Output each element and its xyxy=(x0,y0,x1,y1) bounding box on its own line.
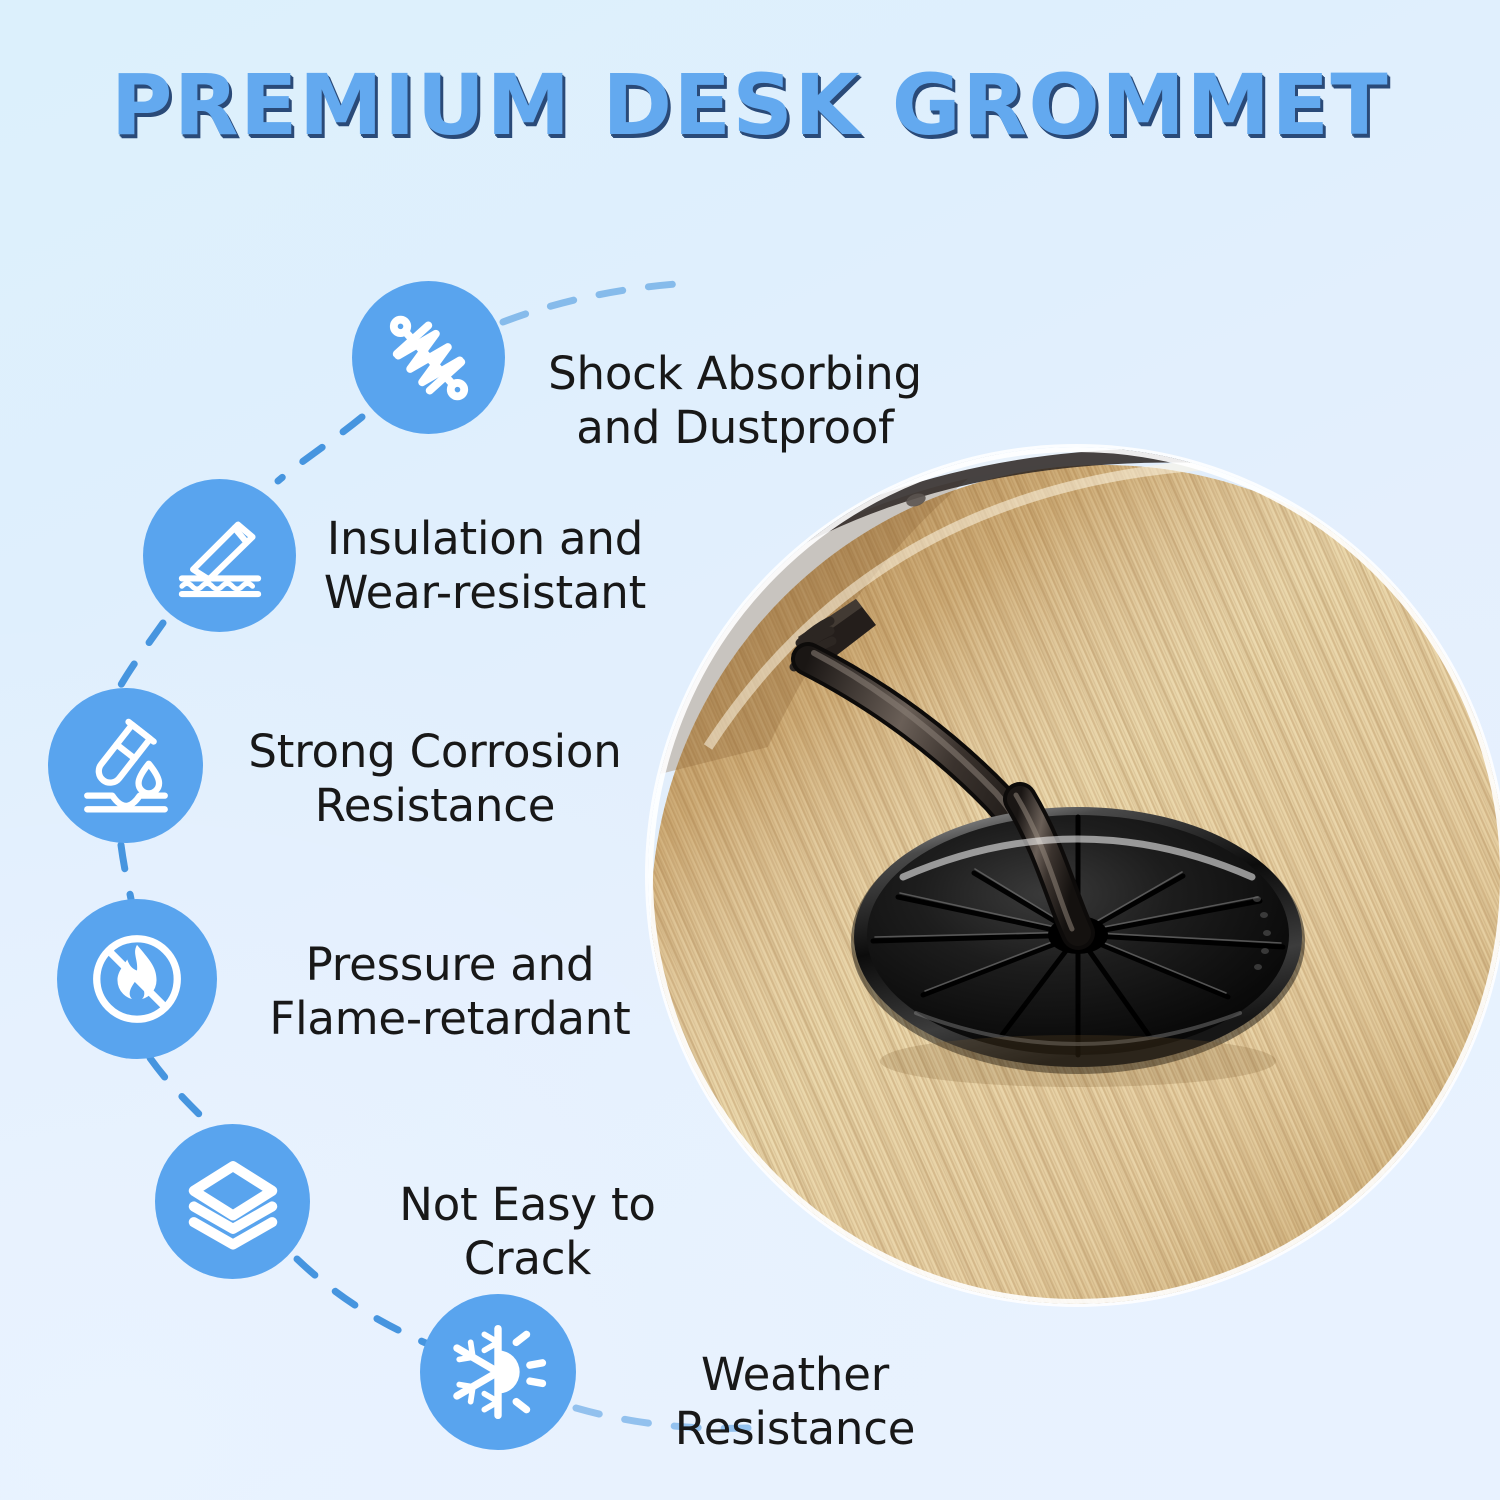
no-flame-icon xyxy=(57,899,217,1059)
infographic-canvas: PREMIUM DESK GROMMET xyxy=(0,0,1500,1500)
feature-label: Insulation and Wear-resistant xyxy=(310,512,660,620)
feature-label: Weather Resistance xyxy=(585,1348,1005,1456)
snowflake-sun-icon xyxy=(420,1294,576,1450)
blade-wear-surface-icon xyxy=(143,479,296,632)
feature-label: Shock Absorbing and Dustproof xyxy=(520,347,950,455)
test-tube-droplet-icon xyxy=(48,688,203,843)
page-title: PREMIUM DESK GROMMET xyxy=(0,56,1500,154)
shock-absorber-icon xyxy=(352,281,505,434)
feature-label: Pressure and Flame-retardant xyxy=(245,938,655,1046)
product-photo xyxy=(648,447,1500,1304)
stacked-layers-icon xyxy=(155,1124,310,1279)
feature-label: Strong Corrosion Resistance xyxy=(230,725,640,833)
feature-label: Not Easy to Crack xyxy=(330,1178,725,1286)
